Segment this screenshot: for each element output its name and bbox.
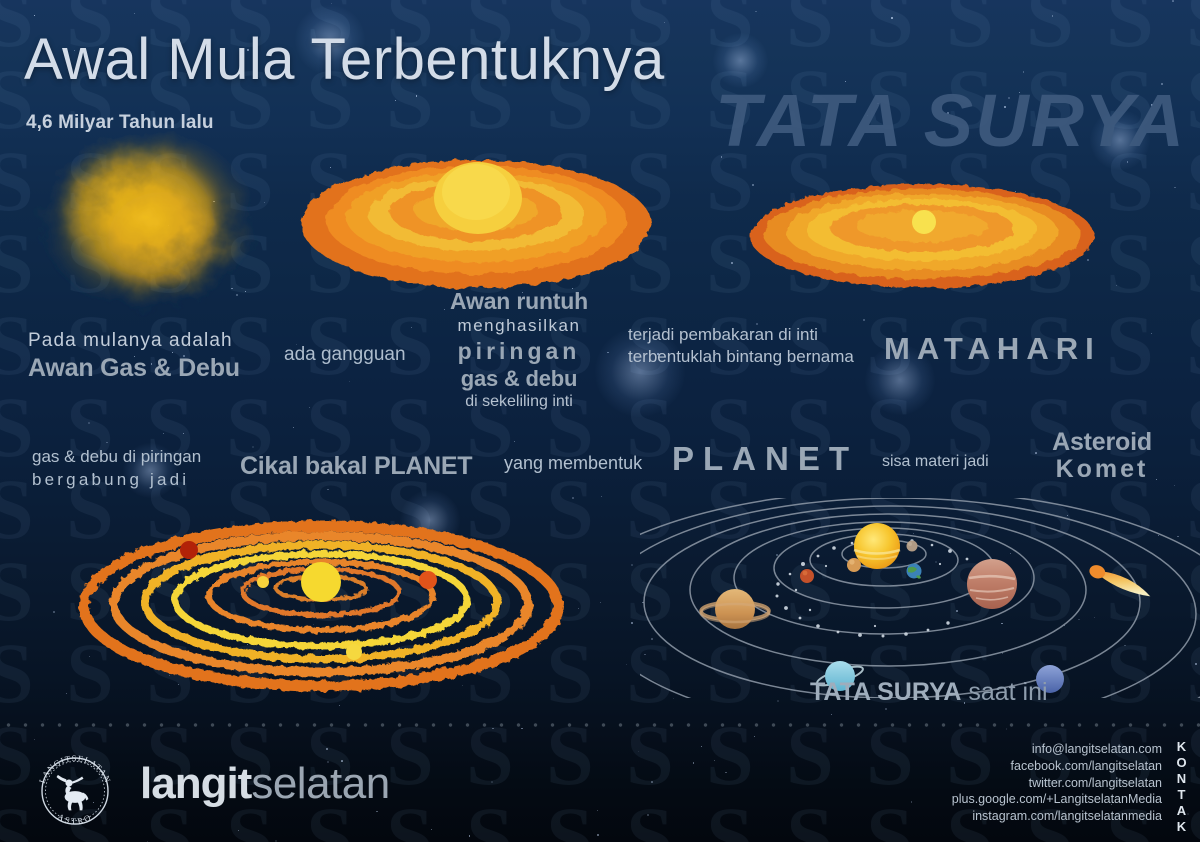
brand-bold: langit (140, 759, 251, 808)
illustration-solar-system (640, 498, 1200, 698)
page-title: Awal Mula Terbentuknya (24, 26, 665, 93)
caption-cloud-line2: Awan Gas & Debu (28, 354, 268, 383)
infographic-poster: SSSSSSSSSSSSSSSSSSSSSSSSSSSSSSSSSSSSSSSS… (0, 0, 1200, 842)
caption-coalesce: gas & debu di piringan bergabung jadi (32, 447, 232, 490)
caption-ignition-line1: terjadi pembakaran di inti (628, 325, 878, 345)
caption-collapse-line3: piringan (424, 338, 614, 365)
contact-googleplus[interactable]: plus.google.com/+LangitselatanMedia (952, 791, 1162, 808)
caption-disturbance: ada gangguan (284, 344, 406, 366)
caption-coalesce-line2: bergabung jadi (32, 470, 232, 490)
caption-solar-system-light: saat ini (968, 678, 1047, 706)
label-cikal-bakal-planet: Cikal bakal PLANET (240, 452, 472, 481)
label-komet: Komet (1022, 455, 1182, 484)
caption-cloud: Pada mulanya adalah Awan Gas & Debu (28, 330, 268, 383)
caption-collapse-line1: Awan runtuh (424, 288, 614, 315)
contact-list: info@langitselatan.com facebook.com/lang… (952, 741, 1162, 825)
illustration-star-disk (742, 172, 1102, 297)
caption-solar-system-bold: TATA SURYA (810, 678, 961, 706)
brand-wordmark: langitselatan (140, 762, 390, 806)
contact-twitter[interactable]: twitter.com/langitselatan (952, 775, 1162, 792)
brand-light: selatan (251, 759, 389, 808)
caption-ignition-line2: terbentuklah bintang bernama (628, 347, 878, 367)
caption-collapse-line5: di sekeliling inti (424, 393, 614, 411)
caption-cloud-line1: Pada mulanya adalah (28, 330, 268, 352)
label-asteroid: Asteroid (1022, 428, 1182, 457)
caption-leftover: sisa materi jadi (882, 453, 989, 471)
caption-collapse: Awan runtuh menghasilkan piringan gas & … (424, 288, 614, 411)
caption-disturbance-line1: ada gangguan (284, 344, 406, 366)
caption-collapse-line2: menghasilkan (424, 316, 614, 336)
contact-email[interactable]: info@langitselatan.com (952, 741, 1162, 758)
page-title-tata-surya: TATA SURYA (715, 78, 1186, 163)
caption-collapse-line4: gas & debu (424, 366, 614, 392)
contact-instagram[interactable]: instagram.com/langitselatanmedia (952, 808, 1162, 825)
langitselatan-seal-logo: LANGITSELATAN ASTRO (33, 749, 117, 833)
label-matahari: MATAHARI (884, 331, 1101, 367)
caption-coalesce-line1: gas & debu di piringan (32, 447, 232, 467)
illustration-protoplanetary-disk (296, 138, 656, 298)
contact-facebook[interactable]: facebook.com/langitselatan (952, 758, 1162, 775)
caption-forming: yang membentuk (504, 453, 642, 474)
label-planet: PLANET (672, 440, 858, 478)
illustration-gas-dust-cloud (12, 118, 282, 333)
caption-solar-system: TATA SURYA saat ini (810, 678, 1048, 707)
kontak-vertical-label: KONTAK (1172, 739, 1192, 835)
label-asteroid-komet: Asteroid Komet (1022, 428, 1182, 484)
footer-divider (0, 723, 1200, 727)
illustration-planet-forming-disk (78, 508, 564, 700)
caption-ignition: terjadi pembakaran di inti terbentuklah … (628, 325, 878, 367)
svg-text:ASTRO: ASTRO (56, 812, 94, 826)
svg-text:LANGITSELATAN: LANGITSELATAN (38, 754, 113, 785)
